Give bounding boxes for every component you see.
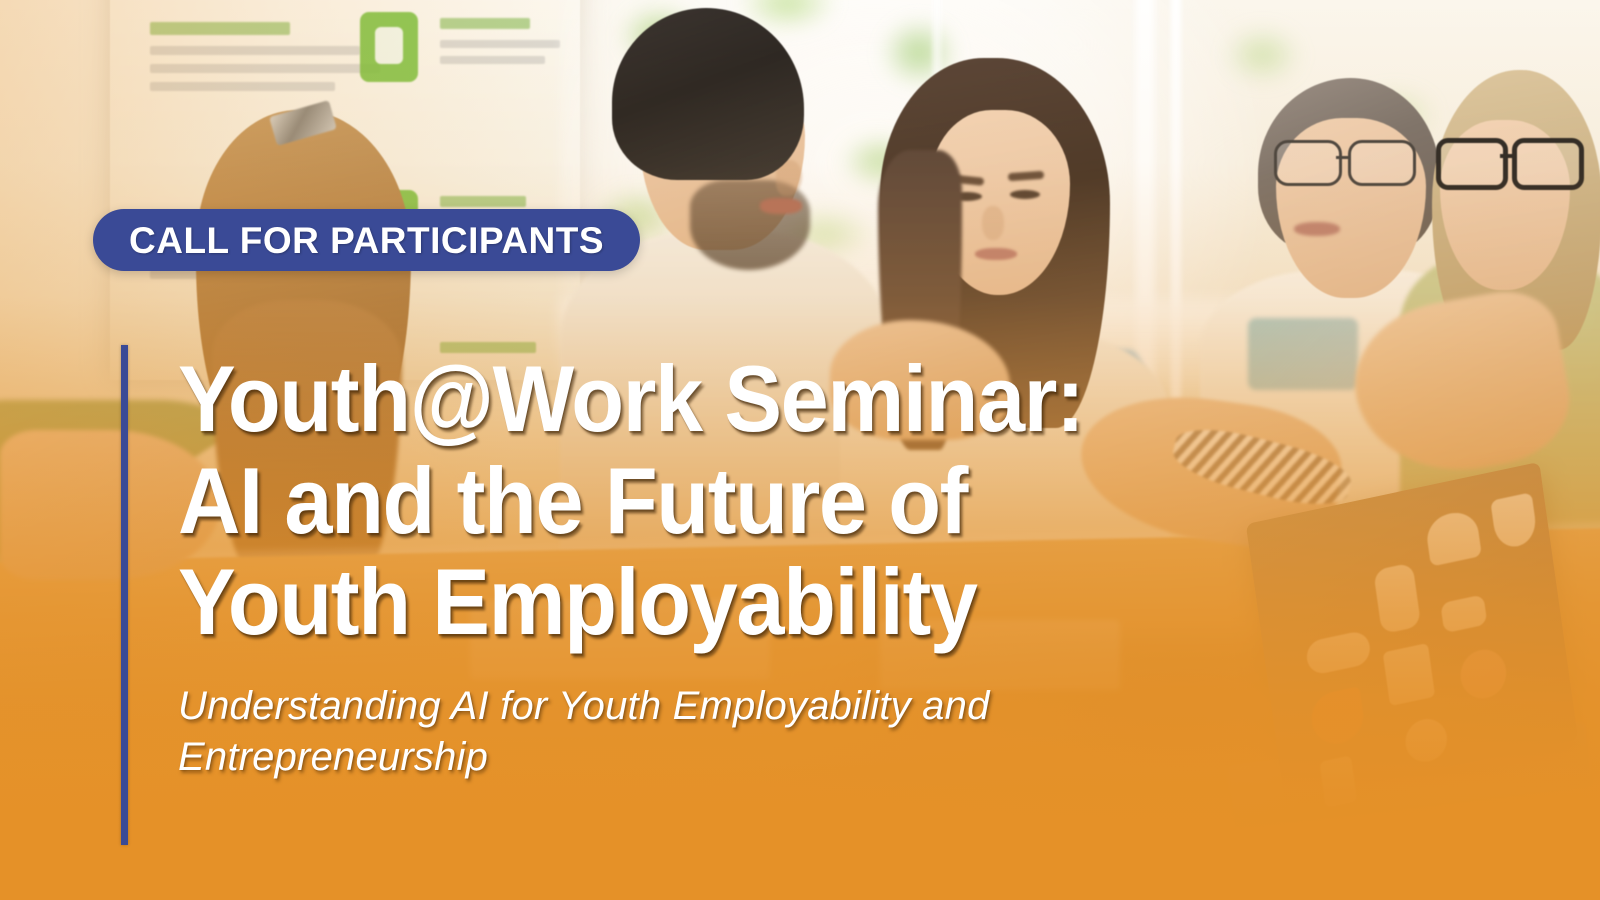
page-subtitle: Understanding AI for Youth Employability… [178, 681, 1218, 783]
title-line-2: AI and the Future of [178, 450, 1264, 552]
badge-label: CALL FOR PARTICIPANTS [129, 222, 604, 259]
page-title: Youth@Work Seminar: AI and the Future of… [178, 348, 1264, 653]
title-line-3: Youth Employability [178, 551, 1264, 653]
banner-text-block: Youth@Work Seminar: AI and the Future of… [178, 348, 1358, 783]
call-for-participants-badge: CALL FOR PARTICIPANTS [93, 209, 640, 271]
title-line-1: Youth@Work Seminar: [178, 348, 1264, 450]
vertical-accent-line [121, 345, 128, 845]
event-banner: CALL FOR PARTICIPANTS Youth@Work Seminar… [0, 0, 1600, 900]
